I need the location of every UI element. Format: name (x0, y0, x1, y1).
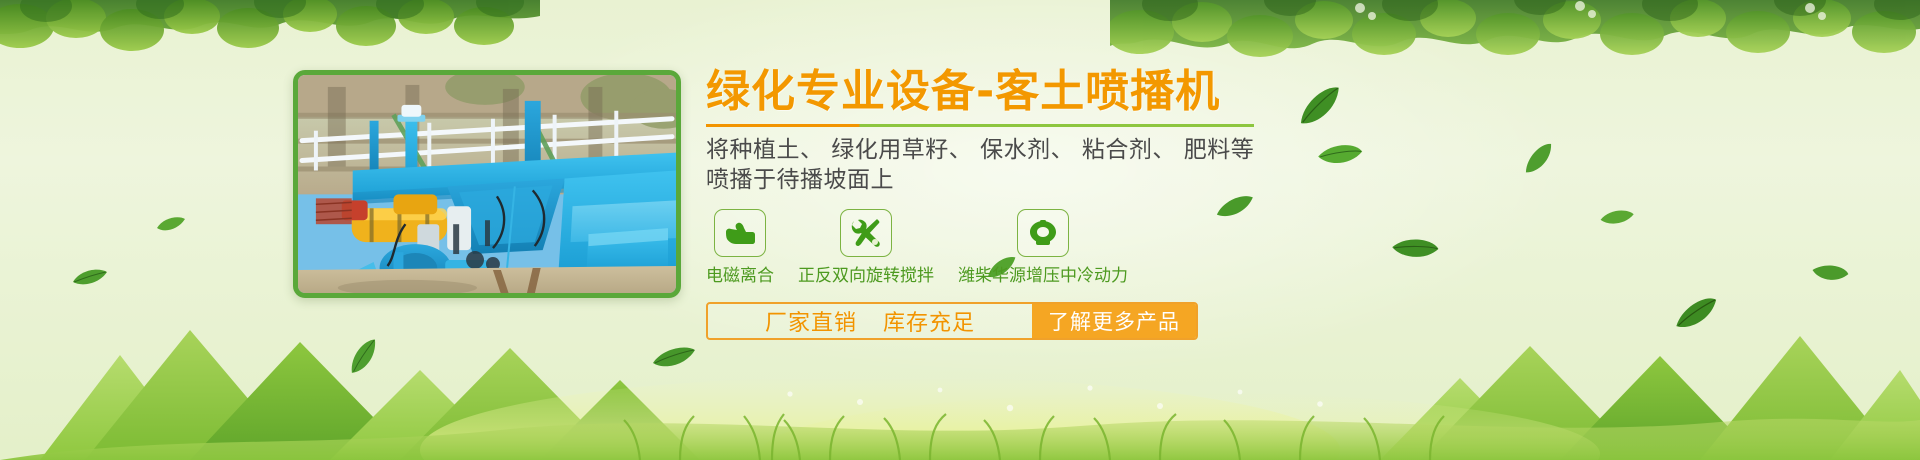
learn-more-button[interactable]: 了解更多产品 (1032, 304, 1196, 338)
wrench-screwdriver-icon (850, 218, 882, 248)
floating-leaf-icon (1599, 206, 1635, 231)
feature-icon-box (840, 209, 892, 257)
feature-item-mixing[interactable]: 正反双向旋转搅拌 (798, 209, 934, 286)
grass-layer (0, 330, 1920, 460)
clutch-hand-icon (724, 219, 756, 247)
subtitle-line-1: 将种植土、 绿化用草籽、 保水剂、 粘合剂、 肥料等 (706, 135, 1326, 165)
feature-icon-box (714, 209, 766, 257)
promo-banner: 绿化专业设备-客土喷播机 将种植土、 绿化用草籽、 保水剂、 粘合剂、 肥料等 … (0, 0, 1920, 460)
floating-leaf-icon (156, 216, 186, 234)
feature-label: 电磁离合 (706, 266, 774, 286)
floating-leaf-icon (72, 268, 108, 288)
title-divider (706, 124, 1254, 127)
floating-leaf-icon (652, 346, 696, 370)
feature-label: 潍柴华源增压中冷动力 (958, 266, 1128, 286)
cta-tag-2: 库存充足 (883, 305, 975, 337)
cta-tag-1: 厂家直销 (765, 305, 857, 337)
cta-bar: 厂家直销 库存充足 了解更多产品 (706, 302, 1198, 340)
feature-item-engine[interactable]: 潍柴华源增压中冷动力 (958, 209, 1128, 286)
feature-item-clutch[interactable]: 电磁离合 (706, 209, 774, 286)
banner-content: 绿化专业设备-客土喷播机 将种植土、 绿化用草籽、 保水剂、 粘合剂、 肥料等 … (706, 66, 1326, 340)
feature-label: 正反双向旋转搅拌 (798, 266, 934, 286)
cta-tags: 厂家直销 库存充足 (708, 304, 1032, 338)
product-photo-frame (293, 70, 681, 298)
feature-list: 电磁离合 正反双向旋转搅拌 (706, 209, 1326, 286)
floating-leaf-icon (1517, 140, 1561, 178)
product-photo (298, 75, 676, 294)
subtitle-line-2: 喷播于待播坡面上 (706, 165, 1326, 195)
page-title: 绿化专业设备-客土喷播机 (706, 66, 1326, 118)
engine-power-icon (1027, 219, 1059, 247)
feature-icon-box (1017, 209, 1069, 257)
